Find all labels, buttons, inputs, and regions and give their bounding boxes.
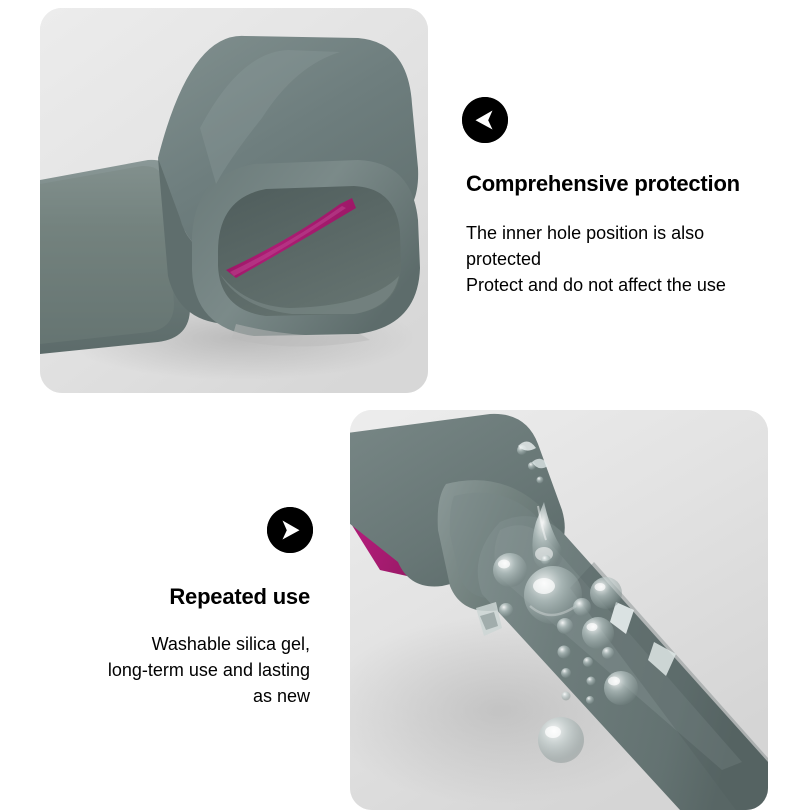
feature-body: The inner hole position is also protecte… bbox=[466, 220, 784, 298]
feature-body-line: protected bbox=[466, 246, 784, 272]
feature-heading: Repeated use bbox=[40, 583, 310, 611]
arrow-left-glyph bbox=[462, 97, 508, 143]
product-feature-layout: Comprehensive protection The inner hole … bbox=[0, 0, 800, 800]
feature-body: Washable silica gel, long-term use and l… bbox=[40, 631, 310, 709]
arrow-right-glyph bbox=[267, 507, 313, 553]
feature-text-comprehensive-protection: Comprehensive protection The inner hole … bbox=[466, 170, 784, 298]
nozzle-cover-photo-card bbox=[40, 8, 428, 393]
feature-heading: Comprehensive protection bbox=[466, 170, 784, 198]
feature-body-line: long-term use and lasting bbox=[40, 657, 310, 683]
wet-handle-illustration bbox=[350, 410, 768, 810]
feature-text-repeated-use: Repeated use Washable silica gel, long-t… bbox=[40, 583, 310, 709]
wet-handle-photo-card bbox=[350, 410, 768, 810]
arrow-right-icon bbox=[267, 507, 313, 553]
nozzle-cover-illustration bbox=[40, 8, 428, 393]
feature-body-line: Washable silica gel, bbox=[40, 631, 310, 657]
arrow-left-icon bbox=[462, 97, 508, 143]
feature-body-line: Protect and do not affect the use bbox=[466, 272, 784, 298]
feature-body-line: as new bbox=[40, 683, 310, 709]
feature-body-line: The inner hole position is also bbox=[466, 220, 784, 246]
